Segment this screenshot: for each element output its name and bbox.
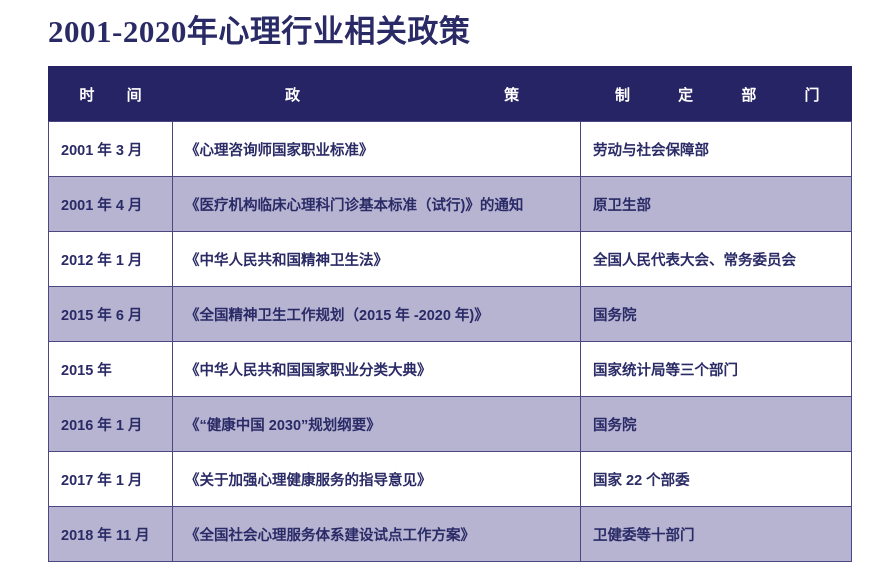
cell-time: 2015 年 6 月 <box>49 287 173 342</box>
cell-department: 原卫生部 <box>581 177 852 232</box>
cell-department: 国务院 <box>581 397 852 452</box>
cell-time: 2015 年 <box>49 342 173 397</box>
table-row: 2001 年 4 月《医疗机构临床心理科门诊基本标准（试行)》的通知原卫生部 <box>49 177 852 232</box>
table-row: 2015 年 6 月《全国精神卫生工作规划（2015 年 -2020 年)》国务… <box>49 287 852 342</box>
cell-time: 2012 年 1 月 <box>49 232 173 287</box>
cell-policy: 《全国精神卫生工作规划（2015 年 -2020 年)》 <box>173 287 581 342</box>
cell-time: 2001 年 4 月 <box>49 177 173 232</box>
column-header-department: 制 定 部 门 <box>581 67 852 122</box>
table-row: 2016 年 1 月《“健康中国 2030”规划纲要》国务院 <box>49 397 852 452</box>
cell-department: 国务院 <box>581 287 852 342</box>
cell-policy: 《“健康中国 2030”规划纲要》 <box>173 397 581 452</box>
cell-time: 2016 年 1 月 <box>49 397 173 452</box>
page-title: 2001-2020年心理行业相关政策 <box>48 6 470 51</box>
cell-time: 2018 年 11 月 <box>49 507 173 562</box>
table-header-row: 时 间 政 策 制 定 部 门 <box>49 67 852 122</box>
cell-time: 2017 年 1 月 <box>49 452 173 507</box>
table-row: 2018 年 11 月《全国社会心理服务体系建设试点工作方案》卫健委等十部门 <box>49 507 852 562</box>
cell-department: 劳动与社会保障部 <box>581 122 852 177</box>
cell-department: 国家统计局等三个部门 <box>581 342 852 397</box>
cell-department: 全国人民代表大会、常务委员会 <box>581 232 852 287</box>
column-header-policy: 政 策 <box>173 67 581 122</box>
cell-time: 2001 年 3 月 <box>49 122 173 177</box>
table-row: 2001 年 3 月《心理咨询师国家职业标准》劳动与社会保障部 <box>49 122 852 177</box>
table-row: 2017 年 1 月《关于加强心理健康服务的指导意见》国家 22 个部委 <box>49 452 852 507</box>
column-header-time: 时 间 <box>49 67 173 122</box>
policy-table-page: 2001-2020年心理行业相关政策 时 间 政 策 制 定 部 门 2001 … <box>0 0 876 570</box>
cell-policy: 《全国社会心理服务体系建设试点工作方案》 <box>173 507 581 562</box>
cell-policy: 《中华人民共和国国家职业分类大典》 <box>173 342 581 397</box>
cell-department: 国家 22 个部委 <box>581 452 852 507</box>
cell-department: 卫健委等十部门 <box>581 507 852 562</box>
table-body: 2001 年 3 月《心理咨询师国家职业标准》劳动与社会保障部2001 年 4 … <box>49 122 852 562</box>
table-row: 2012 年 1 月《中华人民共和国精神卫生法》全国人民代表大会、常务委员会 <box>49 232 852 287</box>
policy-table: 时 间 政 策 制 定 部 门 2001 年 3 月《心理咨询师国家职业标准》劳… <box>48 66 852 562</box>
policy-table-container: 时 间 政 策 制 定 部 门 2001 年 3 月《心理咨询师国家职业标准》劳… <box>48 66 851 562</box>
table-header: 时 间 政 策 制 定 部 门 <box>49 67 852 122</box>
table-row: 2015 年《中华人民共和国国家职业分类大典》国家统计局等三个部门 <box>49 342 852 397</box>
cell-policy: 《心理咨询师国家职业标准》 <box>173 122 581 177</box>
cell-policy: 《医疗机构临床心理科门诊基本标准（试行)》的通知 <box>173 177 581 232</box>
cell-policy: 《关于加强心理健康服务的指导意见》 <box>173 452 581 507</box>
cell-policy: 《中华人民共和国精神卫生法》 <box>173 232 581 287</box>
